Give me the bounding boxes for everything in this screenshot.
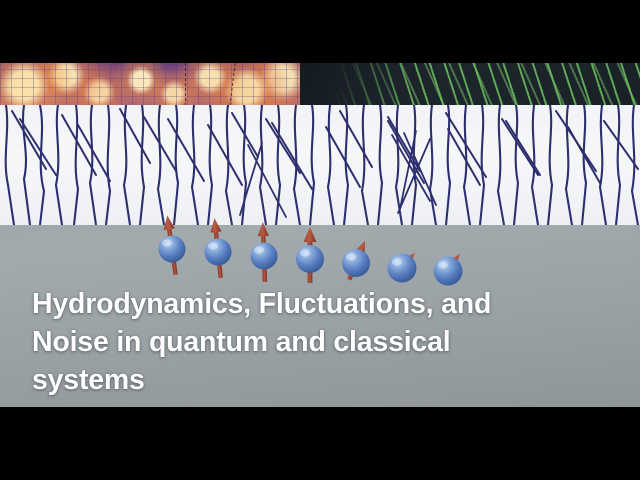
heatmap-dashed-guide-1 (185, 63, 186, 106)
letterbox-bottom (0, 407, 640, 480)
spin-5 (342, 238, 371, 282)
letterbox-top (0, 0, 640, 63)
science-panel-row (0, 63, 640, 106)
video-title: Hydrodynamics, Fluctuations, and Noise i… (32, 285, 572, 399)
spin-6 (388, 248, 420, 282)
video-frame: Hydrodynamics, Fluctuations, and Noise i… (0, 63, 640, 407)
spin-7 (434, 250, 466, 286)
spin-chain-svg (150, 223, 500, 293)
spin-2 (205, 218, 232, 279)
title-line-1: Hydrodynamics, Fluctuations, and (32, 285, 572, 323)
green-streak-texture (300, 63, 640, 106)
title-line-2: Noise in quantum and classical (32, 323, 572, 361)
worldline-diagram-panel (0, 105, 640, 225)
spin-3 (251, 222, 278, 282)
title-line-3: systems (32, 361, 572, 399)
worldline-svg (0, 105, 640, 225)
green-streak-panel (300, 63, 640, 106)
video-screenshot: Hydrodynamics, Fluctuations, and Noise i… (0, 0, 640, 480)
spin-4 (296, 227, 324, 283)
spectral-heatmap-panel (0, 63, 300, 106)
spin-chain-animation (150, 223, 500, 293)
spin-1 (159, 215, 186, 276)
heatmap-grid-overlay (0, 63, 300, 106)
